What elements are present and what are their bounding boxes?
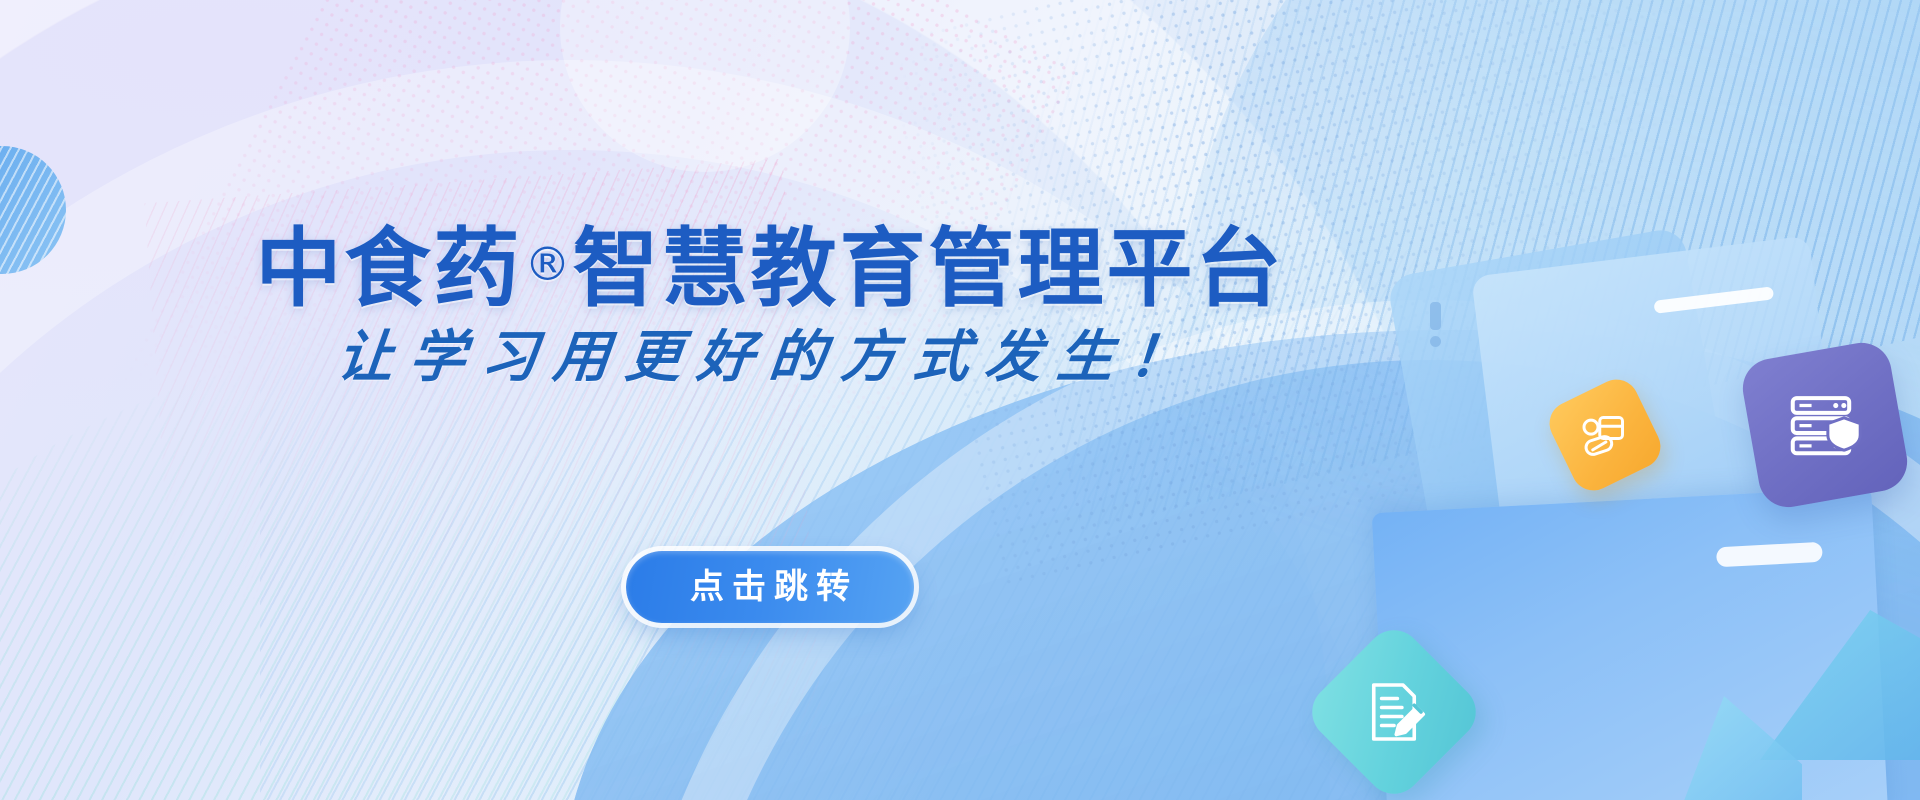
folder-label-strip [1716, 542, 1823, 568]
server-shield-tile [1738, 338, 1912, 512]
hero-banner: 中食药®智慧教育管理平台 让学习用更好的方式发生！ 点击跳转 [0, 0, 1920, 800]
page-title-part-1: 中食药 [256, 219, 523, 319]
hero-content: 中食药®智慧教育管理平台 让学习用更好的方式发生！ 点击跳转 [0, 0, 1540, 800]
server-shield-icon [1782, 382, 1868, 468]
pills-icon [1577, 407, 1633, 463]
page-subtitle: 让学习用更好的方式发生！ [0, 312, 1544, 393]
page-title-part-2: 智慧教育管理平台 [573, 219, 1285, 319]
page-title: 中食药®智慧教育管理平台 [0, 226, 1540, 312]
cta-container: 点击跳转 [0, 551, 1540, 623]
jump-button[interactable]: 点击跳转 [626, 551, 914, 623]
registered-trademark-icon: ® [525, 237, 571, 291]
